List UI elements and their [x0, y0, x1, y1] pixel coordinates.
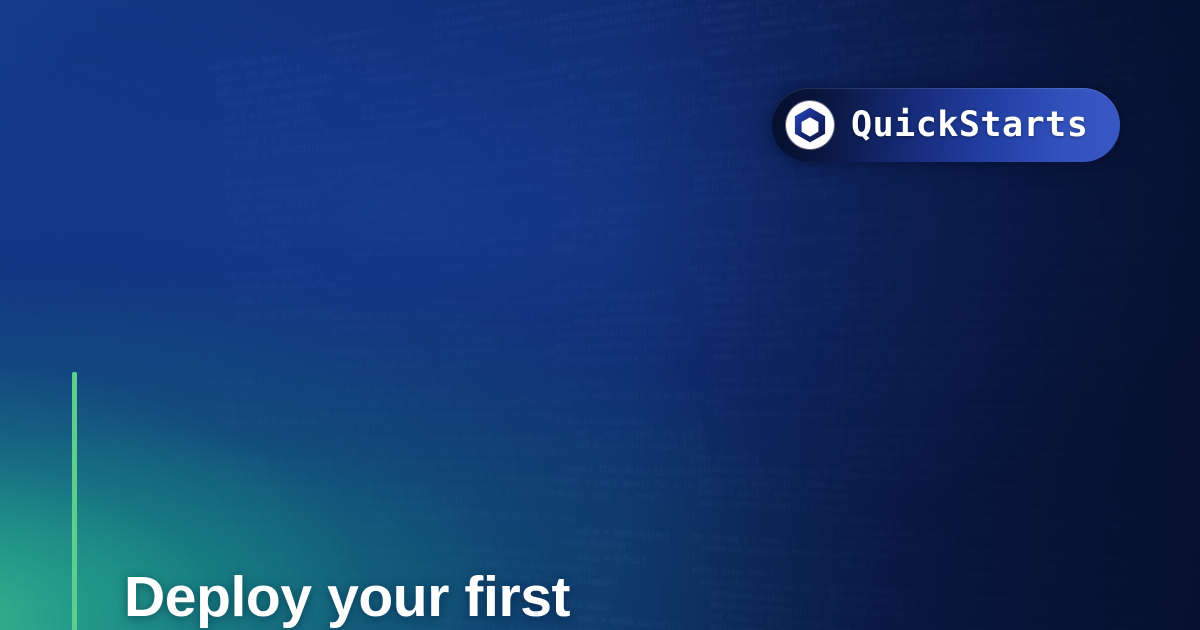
quickstarts-badge: QuickStarts — [772, 88, 1120, 162]
page-title: Deploy your first Smart Contract — [124, 410, 570, 630]
accent-bar — [72, 372, 77, 630]
headline-line-1: Deploy your first — [124, 560, 570, 630]
headline-block: Deploy your first Smart Contract — [72, 372, 570, 630]
quickstarts-social-card: import java.util.*; import java.io.*; pu… — [0, 0, 1200, 630]
badge-label: QuickStarts — [851, 108, 1088, 143]
code-column: return value; } } } while (it.hasNext())… — [1089, 0, 1200, 630]
chainlink-hexagon-icon — [786, 101, 834, 149]
code-column: data(issubclass(list,object)) dataif(iss… — [550, 0, 715, 630]
